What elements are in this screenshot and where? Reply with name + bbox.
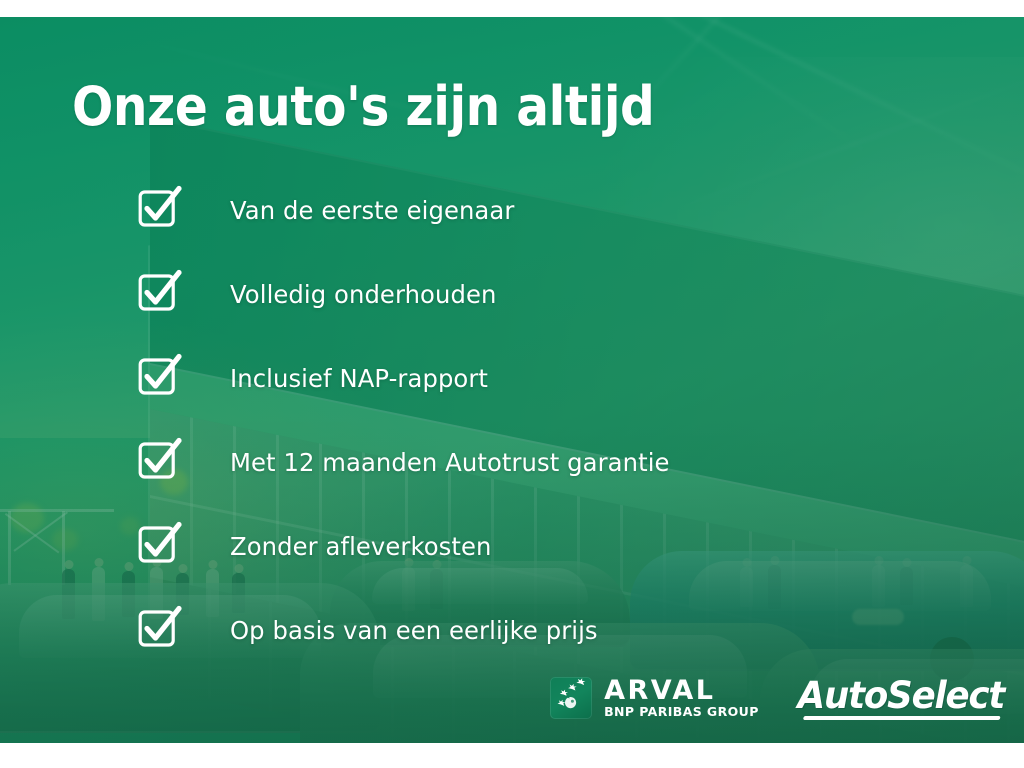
checkbox-checked-icon — [138, 355, 182, 401]
checklist-item: Op basis van een eerlijke prijs — [138, 588, 938, 672]
page-title: Onze auto's zijn altijd — [72, 79, 654, 136]
screenshot-root: Onze auto's zijn altijd Van de eerste ei… — [0, 0, 1024, 768]
checkbox-checked-icon — [138, 607, 182, 653]
checkbox-checked-icon — [138, 439, 182, 485]
checklist-item-label: Van de eerste eigenaar — [230, 196, 514, 225]
checkbox-checked-icon — [138, 523, 182, 569]
checklist-item-label: Zonder afleverkosten — [230, 532, 491, 561]
checkbox-checked-icon — [138, 187, 182, 233]
bnp-paribas-stars-icon — [550, 677, 592, 719]
checklist-item: Met 12 maanden Autotrust garantie — [138, 420, 938, 504]
checklist-item: Volledig onderhouden — [138, 252, 938, 336]
promo-banner: Onze auto's zijn altijd Van de eerste ei… — [0, 17, 1024, 743]
checklist-item-label: Inclusief NAP-rapport — [230, 364, 488, 393]
checkbox-checked-icon — [138, 271, 182, 317]
banner-content: Onze auto's zijn altijd Van de eerste ei… — [0, 17, 1024, 743]
autoselect-logo: AutoSelect — [797, 674, 1004, 721]
benefits-checklist: Van de eerste eigenaar Volledig onderhou… — [138, 168, 938, 672]
checklist-item: Inclusief NAP-rapport — [138, 336, 938, 420]
arval-subtitle: BNP PARIBAS GROUP — [604, 706, 759, 719]
checklist-item: Zonder afleverkosten — [138, 504, 938, 588]
checklist-item-label: Op basis van een eerlijke prijs — [230, 616, 598, 645]
logo-bar: ARVAL BNP PARIBAS GROUP AutoSelect — [550, 674, 1004, 721]
arval-name: ARVAL — [604, 677, 759, 704]
checklist-item-label: Volledig onderhouden — [230, 280, 496, 309]
checklist-item-label: Met 12 maanden Autotrust garantie — [230, 448, 670, 477]
arval-wordmark: ARVAL BNP PARIBAS GROUP — [604, 677, 759, 719]
arval-logo: ARVAL BNP PARIBAS GROUP — [550, 677, 759, 719]
checklist-item: Van de eerste eigenaar — [138, 168, 938, 252]
